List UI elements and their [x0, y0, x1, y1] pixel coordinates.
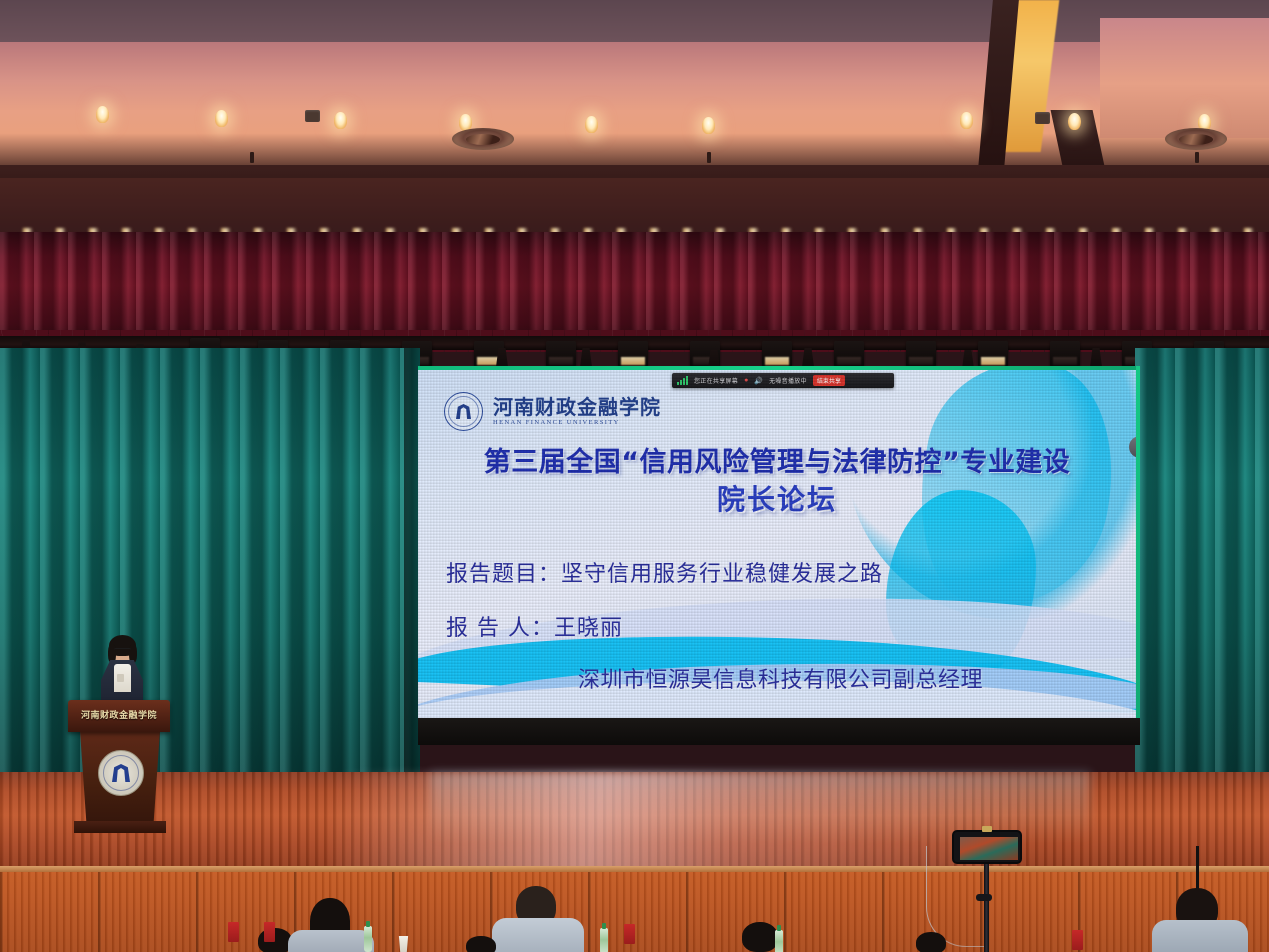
- audience-body: [492, 918, 584, 952]
- ceiling-spotlight: [1068, 113, 1081, 130]
- slide-title-line-1: 第三届全国“信用风险管理与法律防控”专业建设: [418, 440, 1136, 479]
- podium-sign-text: 河南财政金融学院: [68, 708, 170, 721]
- end-share-button[interactable]: 结束共享: [813, 375, 845, 386]
- ceiling-sensor: [707, 152, 711, 163]
- university-emblem-icon: [98, 750, 144, 796]
- water-bottle: [775, 930, 783, 952]
- topic-value: 坚守信用服务行业稳健发展之路: [561, 562, 883, 587]
- slide-speaker-line: 报 告 人：王晓丽: [446, 610, 623, 642]
- ceiling-sensor: [250, 152, 254, 163]
- screen-bottom-panel: [418, 718, 1140, 745]
- audience-head: [916, 932, 946, 952]
- signal-bars-icon: [677, 377, 688, 385]
- water-bottle: [600, 928, 608, 952]
- presentation-slide: 您正在共享屏幕 ● 🔊 无噪音播放中 结束共享 河南财政金融学院 HENAN F…: [418, 370, 1136, 718]
- audience-body: [1152, 920, 1248, 952]
- presenter-badge: [117, 674, 124, 682]
- share-status-text: 您正在共享屏幕: [694, 376, 738, 385]
- audience-body: [288, 930, 374, 952]
- tripod-knob: [976, 894, 992, 901]
- water-bottle: [364, 926, 372, 952]
- speaker-icon[interactable]: 🔊: [754, 377, 763, 385]
- phone-screen: [960, 837, 1018, 860]
- presenter-glasses: [114, 648, 131, 654]
- tripod-camera-icon: [952, 830, 1022, 952]
- slide-topic-line: 报告题目：坚守信用服务行业稳健发展之路: [446, 556, 883, 588]
- valance-folds: [0, 232, 1269, 344]
- ceiling-spotlight: [960, 112, 973, 129]
- ceiling-fan-vent: [1165, 128, 1227, 150]
- table-card: [228, 922, 239, 942]
- led-screen: 您正在共享屏幕 ● 🔊 无噪音播放中 结束共享 河南财政金融学院 HENAN F…: [418, 366, 1140, 745]
- topic-label: 报告题目：: [446, 562, 561, 587]
- ceiling-projector: [1035, 112, 1050, 124]
- audience-head: [742, 922, 778, 952]
- table-card: [264, 922, 275, 942]
- stage-par-light: [978, 341, 1008, 367]
- ceiling-spotlight: [702, 117, 715, 134]
- stage-floor: [0, 772, 1269, 880]
- slide-university-logo: 河南财政金融学院 HENAN FINANCE UNIVERSITY: [444, 392, 661, 431]
- ceiling-spotlight: [585, 116, 598, 133]
- presenter-person: [101, 638, 143, 706]
- ceiling-sensor: [1195, 152, 1199, 163]
- teal-curtain-left: [0, 348, 420, 780]
- phone-clamp: [982, 826, 992, 832]
- audio-status-text: 无噪音播放中: [769, 376, 807, 385]
- podium-base: [74, 821, 166, 833]
- tripod-pole: [984, 864, 989, 952]
- ceiling-projector: [305, 110, 320, 122]
- ceiling-slab-right: [1100, 18, 1269, 138]
- red-valance-curtain: [0, 232, 1269, 344]
- ceiling-dark-band: [0, 0, 1269, 42]
- slide-affiliation-line: 深圳市恒源昊信息科技有限公司副总经理: [578, 662, 983, 694]
- floor-gloss-highlight: [330, 772, 1030, 880]
- stage-par-light: [906, 341, 936, 367]
- stage-par-light: [618, 341, 648, 367]
- stage-par-light: [762, 341, 792, 367]
- smartphone-icon: [952, 830, 1022, 864]
- microphone-icon[interactable]: ●: [744, 377, 748, 384]
- screen-right-edge-glow: [1136, 366, 1140, 745]
- university-name-cn: 河南财政金融学院: [493, 397, 661, 417]
- ceiling-spotlight: [96, 106, 109, 123]
- teal-curtain-right: [1135, 348, 1269, 780]
- speaker-value: 王晓丽: [554, 616, 623, 641]
- stage-par-light: [834, 341, 864, 367]
- podium-header: 河南财政金融学院: [68, 700, 170, 732]
- ceiling-spotlight: [215, 110, 228, 127]
- university-name-en: HENAN FINANCE UNIVERSITY: [493, 419, 661, 426]
- podium: 河南财政金融学院: [70, 700, 168, 840]
- slide-title-line-2: 院长论坛: [418, 478, 1136, 518]
- ceiling: [0, 0, 1269, 180]
- table-card: [1072, 930, 1083, 950]
- ceiling-fan-vent: [452, 128, 514, 150]
- ceiling-spotlight: [334, 112, 347, 129]
- table-card: [624, 924, 635, 944]
- stage-par-light: [546, 341, 576, 367]
- university-seal-icon: [444, 392, 483, 431]
- speaker-label: 报 告 人：: [446, 616, 554, 641]
- audience-head: [466, 936, 496, 952]
- stage-par-light: [1050, 341, 1080, 367]
- screen-share-status-bar: 您正在共享屏幕 ● 🔊 无噪音播放中 结束共享: [672, 373, 894, 388]
- conference-hall-photo: 您正在共享屏幕 ● 🔊 无噪音播放中 结束共享 河南财政金融学院 HENAN F…: [0, 0, 1269, 952]
